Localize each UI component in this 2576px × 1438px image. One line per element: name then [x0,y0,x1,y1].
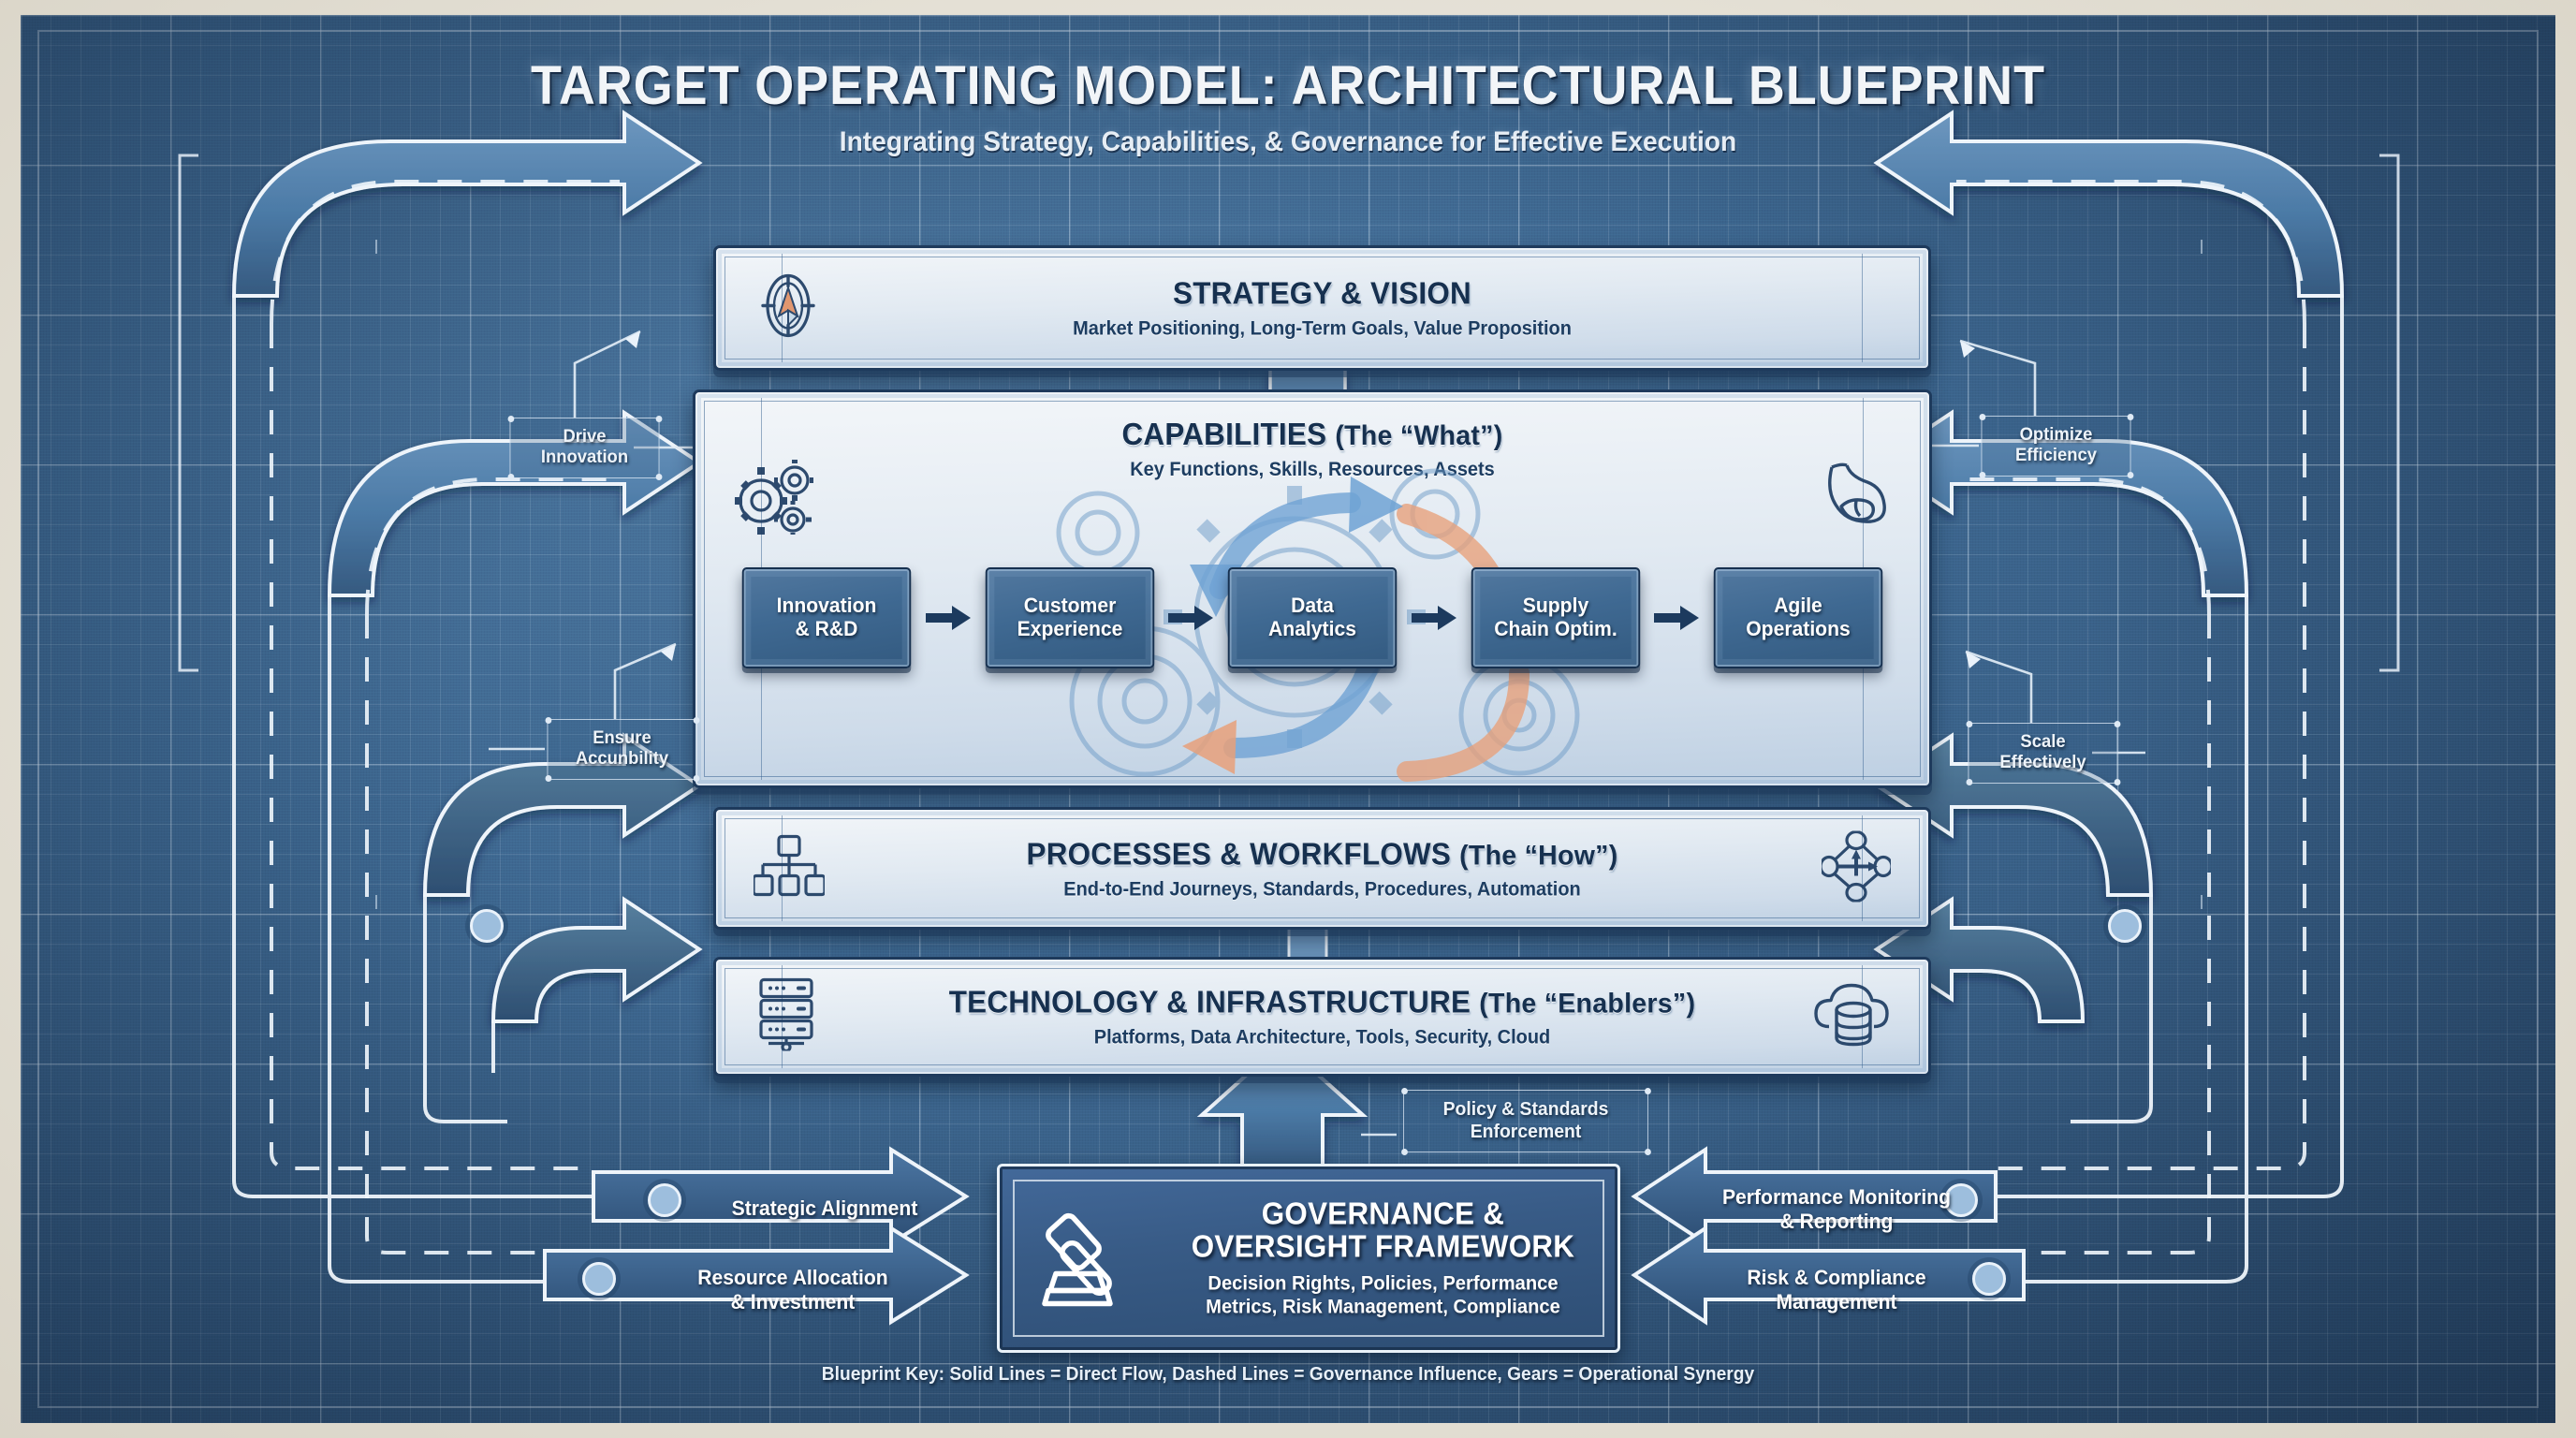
callout-line2: Enforcement [1471,1122,1582,1142]
cap-label-line1: Agile [1774,594,1822,617]
cap-label-line2: Chain Optim. [1494,617,1617,640]
cap-label-line1: Customer [1023,594,1116,617]
callout-line2: Efficiency [2015,446,2097,465]
callout-ensure-accountability: Ensure Accunbility [547,719,696,780]
governance-subtitle-line1: Decision Rights, Policies, Performance [1207,1272,1558,1294]
heading-qualifier: (The “What”) [1335,420,1502,451]
callout-line1: Drive [563,427,606,447]
callout-scale-effectively: Scale Effectively [1968,723,2117,784]
blueprint-key-label: Blueprint Key: [822,1364,944,1385]
callout-line1: Policy & Standards [1443,1099,1609,1120]
layer-capabilities-heading: CAPABILITIES (The “What”) [726,417,1898,452]
cap-label-line2: Analytics [1268,617,1356,640]
band-inner-frame [724,968,1920,1065]
callout-line1: Optimize [2020,425,2093,445]
label-line1: Resource Allocation [697,1266,887,1289]
layer-capabilities-subtitle: Key Functions, Skills, Resources, Assets [726,459,1898,481]
layer-processes-workflows[interactable]: PROCESSES & WORKFLOWS (The “How”) End-to… [713,807,1931,930]
blueprint-key-text: Solid Lines = Direct Flow, Dashed Lines … [944,1364,1754,1385]
callout-optimize-efficiency: Optimize Efficiency [1981,416,2130,477]
callout-line2: Innovation [541,448,628,467]
governance-title-line2: OVERSIGHT FRAMEWORK [1192,1229,1574,1264]
layer-strategy-vision[interactable]: STRATEGY & VISION Market Positioning, Lo… [713,245,1931,371]
page-subtitle: Integrating Strategy, Capabilities, & Go… [96,126,2480,158]
governance-subtitle-line2: Metrics, Risk Management, Compliance [1206,1297,1560,1318]
governance-oversight-framework[interactable]: GOVERNANCE & OVERSIGHT FRAMEWORK Decisio… [997,1164,1620,1353]
layer-capabilities-text: CAPABILITIES (The “What”) Key Functions,… [695,417,1929,481]
capability-box-customer-experience[interactable]: Customer Experience [985,567,1153,668]
governance-flow-risk-compliance: Risk & Compliance Management [1702,1266,1971,1315]
blueprint-key: Blueprint Key: Solid Lines = Direct Flow… [71,1364,2505,1386]
governance-title: GOVERNANCE & OVERSIGHT FRAMEWORK [1183,1197,1583,1264]
callout-line2: Accunbility [576,749,668,769]
cap-label-line1: Innovation [777,594,877,617]
flow-node-dot [582,1262,616,1296]
label-line1: Risk & Compliance [1747,1266,1925,1289]
title-block: TARGET OPERATING MODEL: ARCHITECTURAL BL… [21,54,2555,158]
governance-subtitle: Decision Rights, Policies, Performance M… [1181,1271,1585,1319]
cap-label-line1: Supply [1522,594,1588,617]
governance-flow-resource-allocation: Resource Allocation & Investment [645,1266,942,1315]
capability-box-row: Innovation & R&D Customer Experience Dat… [739,566,1886,669]
layer-capabilities[interactable]: CAPABILITIES (The “What”) Key Functions,… [693,389,1932,788]
cloud-database-icon [1812,978,1891,1056]
capability-flow-arrow-icon [926,606,971,630]
capability-box-data-analytics[interactable]: Data Analytics [1228,567,1397,668]
org-chart-icon [754,832,825,904]
capability-flow-arrow-icon [1654,606,1699,630]
band-inner-frame [724,257,1920,359]
blueprint-sheet: STRATEGY & VISION Market Positioning, Lo… [21,15,2555,1423]
label-line2: & Investment [731,1290,856,1313]
capability-box-supply-chain[interactable]: Supply Chain Optim. [1471,567,1639,668]
flow-node-dot [648,1183,681,1217]
callout-line1: Scale [2020,732,2065,752]
capability-box-innovation[interactable]: Innovation & R&D [742,567,911,668]
governance-title-line1: GOVERNANCE & [1262,1196,1504,1231]
governance-flow-performance-monitoring: Performance Monitoring & Reporting [1689,1185,1985,1235]
cap-label-line2: & R&D [796,617,858,640]
callout-line2: Effectively [1999,753,2086,772]
label-line2: Management [1776,1290,1896,1313]
cap-label-line1: Data [1291,594,1334,617]
callout-line1: Ensure [593,728,651,748]
label-line1: Performance Monitoring [1722,1185,1951,1209]
capability-flow-arrow-icon [1168,606,1213,630]
flow-node-dot [2108,909,2142,943]
network-nodes-icon [1822,830,1891,906]
compass-icon [754,271,823,345]
cap-label-line2: Operations [1746,617,1850,640]
flow-node-dot [1972,1262,2006,1296]
band-inner-frame [724,818,1920,918]
page-title: TARGET OPERATING MODEL: ARCHITECTURAL BL… [110,54,2466,117]
layer-technology-infrastructure[interactable]: TECHNOLOGY & INFRASTRUCTURE (The “Enable… [713,957,1931,1077]
label-line2: & Reporting [1780,1210,1894,1233]
callout-drive-innovation: Drive Innovation [509,418,659,478]
server-rack-icon [754,978,823,1056]
flow-node-dot [470,909,504,943]
capability-flow-arrow-icon [1412,606,1456,630]
governance-flow-strategic-alignment: Strategic Alignment [703,1196,945,1221]
heading-main: CAPABILITIES [1122,417,1327,451]
cap-label-line2: Experience [1017,617,1122,640]
governance-text: GOVERNANCE & OVERSIGHT FRAMEWORK Decisio… [1173,1197,1593,1320]
callout-policy-standards-enforcement: Policy & Standards Enforcement [1403,1090,1648,1152]
capability-box-agile-operations[interactable]: Agile Operations [1714,567,1882,668]
gavel-icon [1035,1201,1146,1316]
